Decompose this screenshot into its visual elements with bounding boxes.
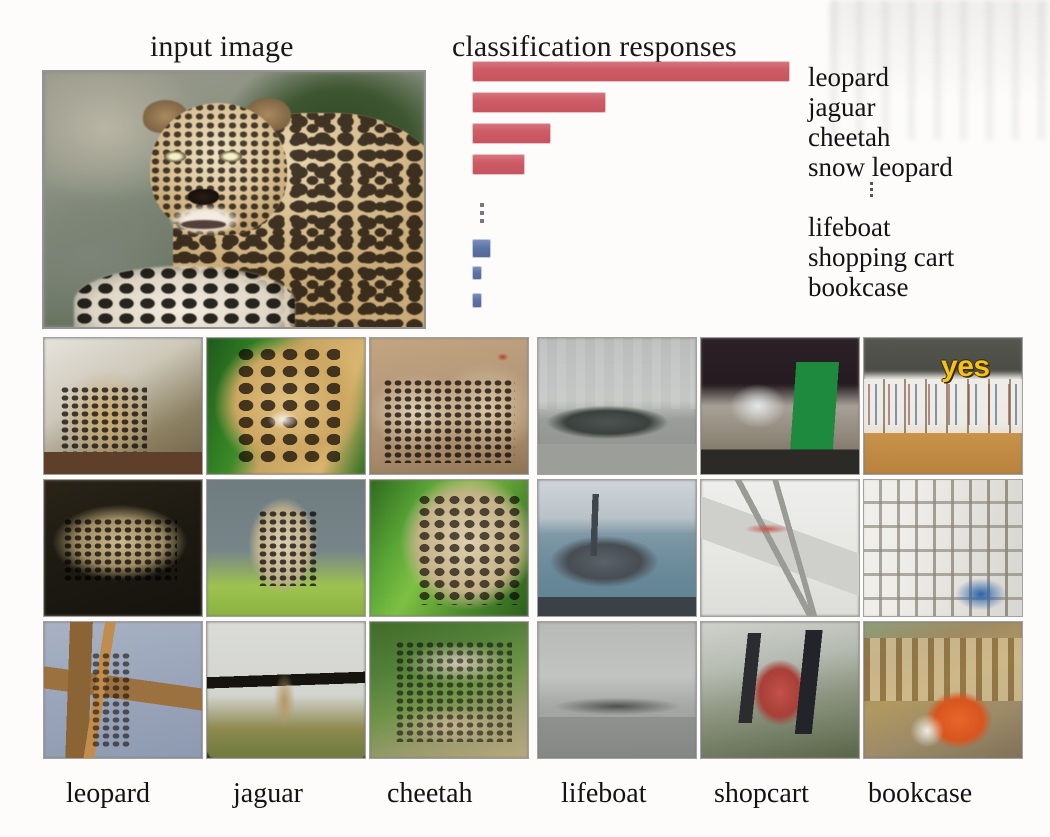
bar-jaguar [473, 93, 605, 112]
grid-image-cell [370, 480, 528, 616]
class-label-lifeboat: lifeboat [808, 212, 1048, 242]
grid-image-cell [864, 622, 1022, 758]
bottom-class-label-jaguar: jaguar [233, 778, 303, 810]
grid-image-cell [207, 480, 365, 616]
bar-lifeboat [473, 240, 490, 257]
labels-ellipsis-icon [808, 182, 1048, 212]
figure-root: input image classification responses leo… [0, 0, 1050, 837]
left-image-grid [44, 338, 528, 758]
grid-image-cell [370, 338, 528, 474]
grid-image-cell [44, 480, 202, 616]
class-label-shopping-cart: shopping cart [808, 242, 1048, 272]
bar-leopard [473, 62, 789, 81]
grid-image-cell [538, 338, 696, 474]
input-image-photo [44, 72, 424, 327]
right-image-grid: yes [538, 338, 1022, 758]
class-label-snow-leopard: snow leopard [808, 152, 1048, 182]
bar-shopping-cart [473, 267, 481, 279]
grid-image-cell [370, 622, 528, 758]
bottom-class-label-bookcase: bookcase [868, 778, 972, 810]
grid-image-cell [207, 622, 365, 758]
grid-image-cell [701, 622, 859, 758]
grid-image-cell [44, 338, 202, 474]
grid-image-cell [864, 480, 1022, 616]
bottom-class-label-cheetah: cheetah [387, 778, 473, 810]
grid-image-cell: yes [864, 338, 1022, 474]
bottom-class-label-shopcart: shopcart [714, 778, 809, 810]
grid-image-cell [44, 622, 202, 758]
bottom-class-label-leopard: leopard [66, 778, 150, 810]
bars-ellipsis-icon [480, 203, 485, 227]
class-label-jaguar: jaguar [808, 92, 1048, 122]
grid-image-cell [538, 622, 696, 758]
class-label-leopard: leopard [808, 62, 1048, 92]
class-label-list: leopardjaguarcheetahsnow leopardlifeboat… [808, 62, 1048, 302]
classification-response-bar-chart [473, 62, 803, 322]
bottom-class-label-lifeboat: lifeboat [561, 778, 647, 810]
grid-image-cell [701, 338, 859, 474]
class-label-bookcase: bookcase [808, 272, 1048, 302]
bar-snow-leopard [473, 155, 524, 174]
classification-responses-title: classification responses [452, 30, 737, 64]
class-label-cheetah: cheetah [808, 122, 1048, 152]
bar-bookcase [473, 294, 481, 307]
bar-cheetah [473, 124, 550, 143]
grid-image-cell [701, 480, 859, 616]
yes-overlay-text: yes [941, 350, 990, 384]
grid-image-cell [538, 480, 696, 616]
grid-image-cell [207, 338, 365, 474]
input-image-title: input image [150, 30, 294, 64]
